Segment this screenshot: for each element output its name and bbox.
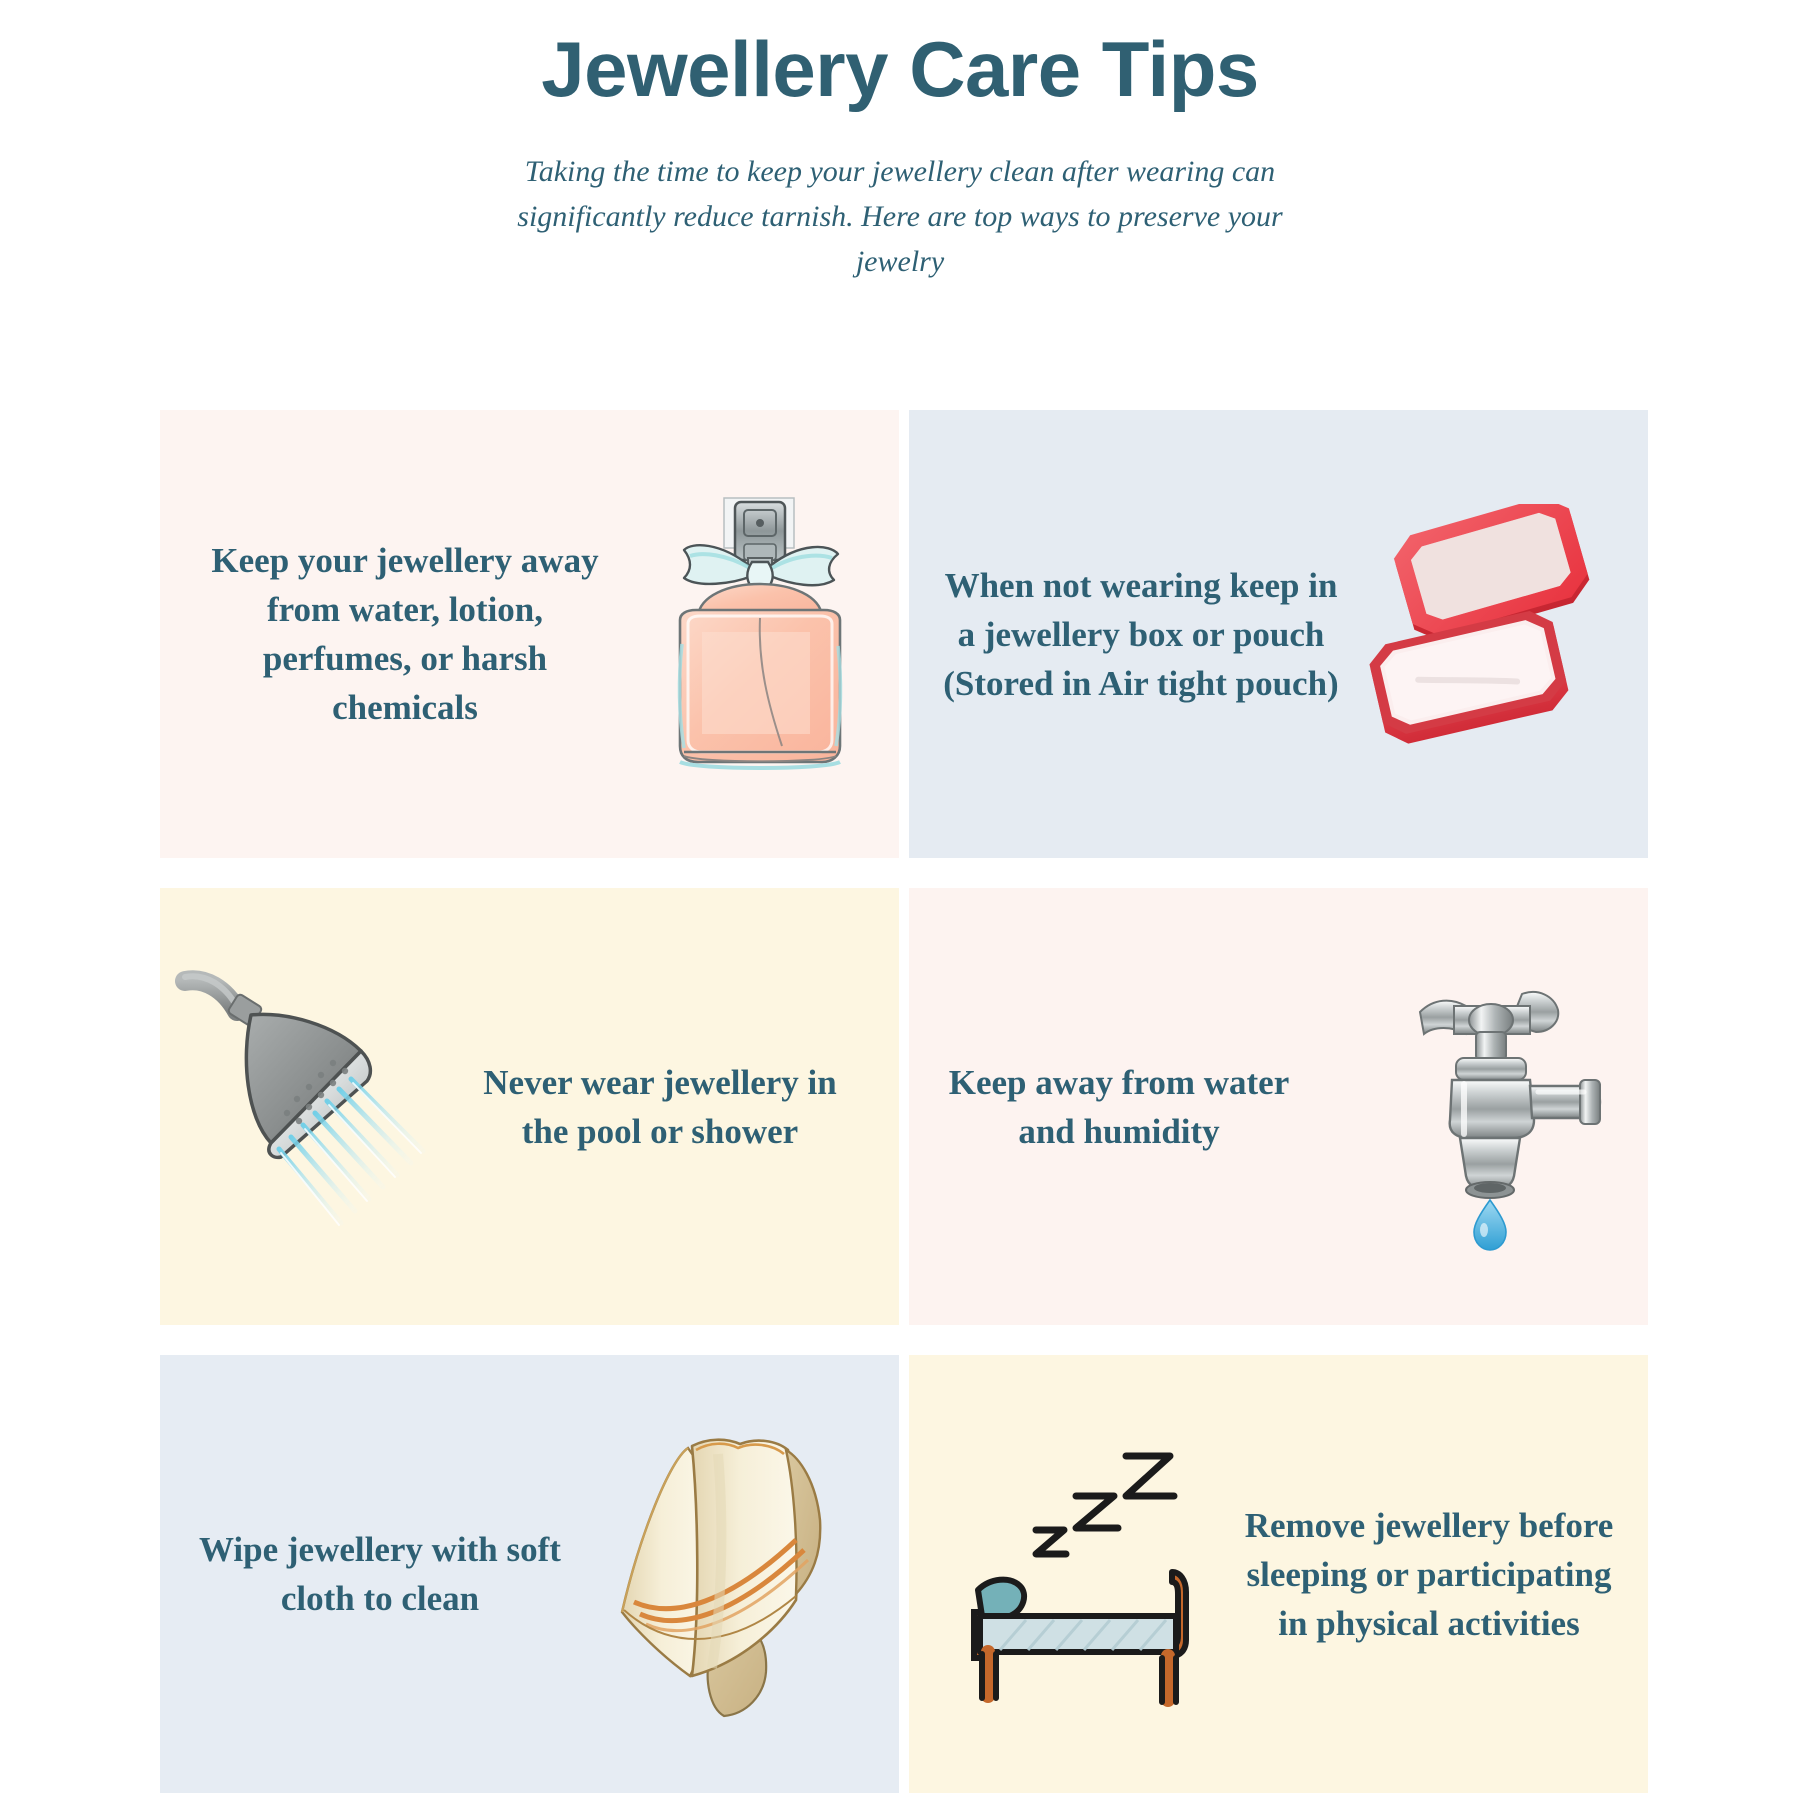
tip-card-store-in-box[interactable]: When not wearing keep in a jewellery box… [909,410,1648,858]
tip-card-no-pool-or-shower[interactable]: Never wear jewellery in the pool or show… [160,888,899,1325]
tip-card-text: When not wearing keep in a jewellery box… [941,561,1341,708]
cloth-icon [580,1424,880,1724]
tip-card-text: Keep away from water and humidity [919,1058,1319,1156]
tip-card-away-from-water[interactable]: Keep away from water and humidity [909,888,1648,1325]
tip-card-text: Never wear jewellery in the pool or show… [460,1058,860,1156]
tip-card-wipe-with-cloth[interactable]: Wipe jewellery with soft cloth to clean [160,1355,899,1793]
header: Jewellery Care Tips Taking the time to k… [0,0,1800,284]
tip-card-remove-before-sleeping[interactable]: Remove jewellery before sleeping or part… [909,1355,1648,1793]
tip-card-away-from-chemicals[interactable]: Keep your jewellery away from water, lot… [160,410,899,858]
tip-card-text: Remove jewellery before sleeping or part… [1239,1501,1619,1648]
page-subtitle: Taking the time to keep your jewellery c… [500,149,1300,284]
tips-grid: Keep your jewellery away from water, lot… [160,410,1640,1793]
faucet-icon [1319,962,1639,1252]
perfume-bottle-icon [620,484,890,784]
bed-sleeping-icon [939,1434,1239,1714]
infographic-page: Jewellery Care Tips Taking the time to k… [0,0,1800,1800]
tip-card-text: Keep your jewellery away from water, lot… [190,536,620,732]
page-title: Jewellery Care Tips [0,26,1800,113]
shower-head-icon [160,967,460,1247]
tip-card-text: Wipe jewellery with soft cloth to clean [180,1525,580,1623]
jewellery-box-icon [1341,504,1641,764]
